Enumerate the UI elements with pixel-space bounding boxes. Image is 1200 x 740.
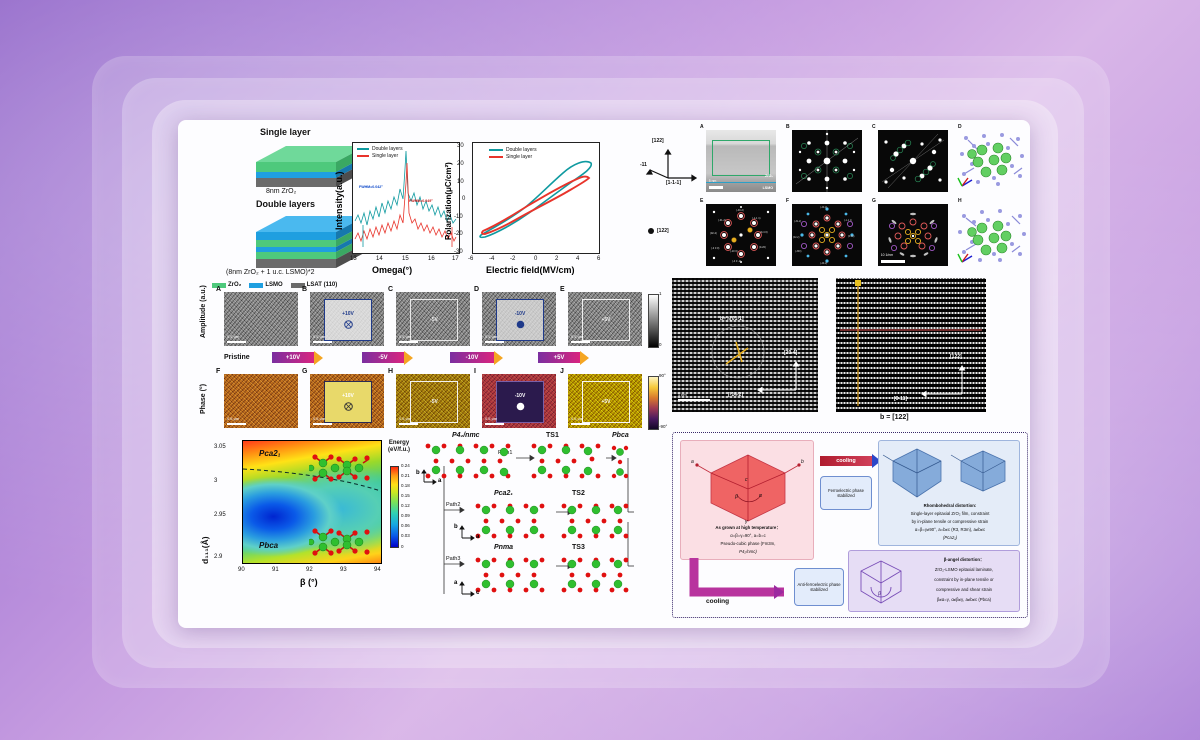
rhombo-body3: α=β=γ≠90°, a=b≠c (R3, R3m), a≠b≠c [883, 527, 1017, 533]
svg-text:(-3 0 0): (-3 0 0) [711, 246, 719, 250]
atomic-model-D-graphic [954, 130, 1030, 192]
pfm-letter-G: G [302, 368, 307, 375]
axis-label-row1-v: b [416, 470, 420, 476]
hrtem-dir1-label: [20-4] [784, 350, 797, 356]
pe-xtick-neg2: -2 [510, 256, 515, 262]
pfm-image-C[interactable]: -5V 0.5 μm [396, 292, 470, 346]
scale-text-G: 0.5 μm [313, 416, 325, 421]
orientation-axes-icon [644, 138, 704, 184]
contour-ytick-290: 2.9 [214, 554, 222, 560]
amplitude-colorbar-gradient [648, 294, 659, 348]
xrd-legend: Double layers Single layer [357, 146, 403, 159]
xrd-xtick-13: 13 [350, 256, 357, 262]
antiferroelectric-pill: Anti-ferroelectric phase stabilized [794, 568, 844, 606]
scale-text-D: 0.5 μm [485, 334, 497, 339]
xrd-xtick-16: 16 [428, 256, 435, 262]
diffraction-image-C[interactable] [878, 130, 948, 192]
tem-letter-C: C [872, 124, 876, 130]
svg-text:a: a [691, 459, 694, 465]
scale-text-I: 0.5 μm [485, 416, 497, 421]
square-label-D: -10V [515, 311, 526, 317]
written-square-G: +10V [324, 381, 372, 423]
zone-axis-label: [122] [657, 228, 669, 234]
svg-text:α: α [759, 493, 762, 499]
contour-colorbar-title: Energy (eV/f.u.) [384, 440, 414, 454]
contour-plot-area: Pca2₁ Pbca [242, 440, 382, 564]
pe-xtick-2: 2 [555, 256, 558, 262]
pseudo-cubic-cell: a b c β α γ [681, 443, 815, 525]
amplitude-colorbar-min: 0 [659, 342, 662, 347]
phase-colorbar-min: -90° [659, 424, 667, 429]
pfm-image-F[interactable]: 0.5 μm [224, 374, 298, 428]
contour-cbtick-003: 0.03 [401, 533, 410, 538]
diffraction-image-E[interactable]: (-40-2)(-31-2)(-1-1 1) (02-2)(0-4 0)(-3 … [706, 204, 776, 266]
cooling-arrow-top-label: cooling [820, 456, 872, 466]
pe-ytick-30: 30 [457, 143, 464, 149]
rhombohedral-cells [879, 443, 1021, 501]
orientation-label-vertical: [122] [652, 138, 664, 144]
rhombohedral-box: Rhombohedral distortion: Single-layer ep… [878, 440, 1020, 546]
scale-bar-F: 0.5 μm [227, 423, 246, 426]
pfm-letter-J: J [560, 368, 564, 375]
pfm-letter-A: A [216, 286, 221, 293]
ferroelectric-pill: Ferroelectric phase stabilized [820, 476, 872, 510]
single-layer-caption: 8nm ZrO₂ [266, 188, 296, 195]
axis-label-row3-v: a [454, 580, 457, 586]
svg-text:β: β [877, 591, 881, 597]
hrtem-dislocation-marks [672, 278, 818, 412]
tem-letter-A: A [700, 124, 704, 130]
chart-energy-phase-map: d₁₁₁(Å) Pca2₁ Pbca [202, 436, 412, 616]
figure-stage: Single layer 8nm ZrO₂ Double layers [0, 0, 1200, 740]
pe-xtick-4: 4 [576, 256, 579, 262]
hrtem-right-caption: b = [122] [880, 414, 909, 421]
contour-cbtick-015: 0.15 [401, 493, 410, 498]
scale-bar-J: 0.5 μm [571, 423, 590, 426]
contour-cbtick-018: 0.18 [401, 483, 410, 488]
as-grown-box: a b c β α γ As grown at high temperature… [680, 440, 814, 560]
hrtem-scale-text: 1 nm [678, 392, 687, 397]
square-label-C: -5V [430, 317, 438, 323]
voltage-arrow-4: +5V [538, 352, 589, 363]
square-label-G: +10V [342, 393, 354, 399]
hrtem-image-left[interactable]: b=½[01-1] [20-4] [-14-2] 1 nm [672, 278, 818, 412]
contour-cbtick-024: 0.24 [401, 463, 410, 468]
phase-colorbar-gradient [648, 376, 659, 430]
zone-axis-marker: [122] [648, 228, 669, 234]
scale-text-C: 0.5 μm [399, 334, 411, 339]
beta-body3: compressive and shear strain [909, 587, 1019, 593]
hrtem-scale-bar: 1 nm [678, 399, 710, 402]
figure-canvas: Single layer 8nm ZrO₂ Double layers [178, 120, 1030, 628]
scale-bar-I: 0.5 μm [485, 423, 504, 426]
written-square-D: -10V [496, 299, 544, 341]
diffraction-pattern-E: (-40-2)(-31-2)(-1-1 1) (02-2)(0-4 0)(-3 … [706, 204, 776, 266]
diffraction-image-F[interactable]: (-40-2)(-31-2)(-1-1 1) (02-2)(0-40)(-300… [792, 204, 862, 266]
square-label-E: +5V [601, 317, 610, 323]
xrd-xtick-14: 14 [376, 256, 383, 262]
contour-xlabel: β (°) [300, 577, 318, 587]
as-grown-line4: P4₂/nmc) [685, 549, 811, 555]
tem-scale-text-G: 10 1/nm [881, 253, 893, 257]
pe-legend-single: Single layer [489, 154, 537, 160]
xrd-annotation-fwhm-double: FWHM=0.042° [359, 185, 383, 189]
axis-label-row2-h: a [476, 534, 479, 540]
voltage-arrow-1-label: +10V [272, 352, 314, 363]
pe-xtick-0: 0 [534, 256, 537, 262]
axis-label-row1-h: a [438, 478, 441, 484]
pfm-letter-D: D [474, 286, 479, 293]
svg-text:(-10 0): (-10 0) [730, 249, 738, 253]
xrd-xlabel: Omega(°) [372, 265, 412, 275]
square-label-I: -10V [515, 393, 526, 399]
pe-legend-single-label: Single layer [506, 154, 532, 160]
scale-bar-E: 0.5 μm [571, 341, 590, 344]
pfm-letter-F: F [216, 368, 220, 375]
rhombo-body2: by in-plane tensile or compressive strai… [883, 519, 1017, 525]
scale-bar-D: 0.5 μm [485, 341, 504, 344]
pfm-image-H[interactable]: -5V 0.5 μm [396, 374, 470, 428]
scale-bar-C: 0.5 μm [399, 341, 418, 344]
double-layer-caption: (8nm ZrO₂ + 1 u.c. LSMO)*2 [226, 269, 315, 276]
diffraction-image-G[interactable]: 10 1/nm [878, 204, 948, 266]
single-layer-title: Single layer [260, 127, 311, 137]
scale-bar-H: 0.5 μm [399, 423, 418, 426]
pe-ytick-neg30: -30 [454, 249, 463, 255]
svg-text:(-4 0 -2): (-4 0 -2) [732, 259, 741, 263]
svg-text:(-40-2): (-40-2) [820, 262, 827, 265]
cooling-arrow-top: cooling [820, 454, 881, 468]
svg-text:(-300): (-300) [795, 250, 802, 253]
pe-legend-double: Double layers [489, 147, 537, 153]
pfm-letter-C: C [388, 286, 393, 293]
contour-xtick-94: 94 [374, 567, 381, 573]
svg-text:(0-20): (0-20) [759, 245, 766, 249]
atomic-model-D[interactable] [954, 130, 1030, 192]
written-square-J: +5V [582, 381, 630, 423]
written-square-C: -5V [410, 299, 458, 341]
contour-xtick-93: 93 [340, 567, 347, 573]
pe-ytick-10: 10 [457, 179, 464, 185]
amplitude-axis-label: Amplitude (a.u.) [200, 285, 207, 338]
written-square-H: -5V [410, 381, 458, 423]
voltage-arrow-2: -5V [362, 352, 413, 363]
hrtem-right-marks [836, 278, 986, 412]
hrtem-image-right[interactable]: [122] [0-11] [836, 278, 986, 412]
square-label-B: +10V [342, 311, 354, 317]
paths-structure-graphics [416, 432, 634, 618]
hrtem-right-dir2-label: [0-11] [894, 396, 907, 402]
panel-pfm-amplitude-row: Amplitude (a.u.) A 0.5 μm B +10V 0.5 μm … [202, 286, 622, 348]
xrd-legend-single-label: Single layer [372, 153, 398, 159]
axis-label-row3-h: c [476, 590, 479, 596]
contour-region-pca21: Pca2₁ [259, 449, 281, 458]
written-square-I: -10V [496, 381, 544, 423]
contour-ylabel: d₁₁₁(Å) [200, 536, 210, 564]
written-square-B: +10V [324, 299, 372, 341]
tem-image-A[interactable]: ZrO₂ LSMO 5 nm [706, 130, 776, 192]
as-grown-line1: As grown at high temperature： [685, 525, 811, 531]
panel-transition-paths: P4₂/nmc TS1 Pbca Pca2₁ TS2 Pnma TS3 Path… [416, 432, 634, 618]
scale-text-B: 0.5 μm [313, 334, 325, 339]
svg-text:β: β [734, 494, 738, 500]
cooling-arrow-bottom-label: cooling [706, 598, 729, 605]
svg-text:(0-4 0): (0-4 0) [760, 230, 768, 234]
as-grown-line2: α=β=γ=90°, a=b=c [685, 533, 811, 539]
double-layer-title: Double layers [256, 199, 315, 209]
xrd-annotation-fwhm-single: FWHM=0.049° [409, 199, 433, 203]
pe-xlabel: Electric field(MV/cm) [486, 265, 575, 275]
crystal-inset-pca21 [309, 451, 373, 485]
as-grown-line3: Pseudo-cubic phase (Fm3m, [685, 541, 811, 547]
atomic-model-H[interactable] [954, 204, 1030, 266]
panel-tem-diffraction-grid: [122] -11 [1-1-1] [122] A ZrO₂ LSMO 5 nm… [640, 124, 1030, 274]
pfm-image-J[interactable]: +5V 0.5 μm [568, 374, 642, 428]
pe-legend: Double layers Single layer [489, 147, 537, 160]
tem-scale-bar-G: 10 1/nm [881, 260, 905, 263]
pe-xtick-neg4: -4 [489, 256, 494, 262]
xrd-legend-double: Double layers [357, 146, 403, 152]
rhombo-body4: (Pca2₁) [883, 535, 1017, 541]
voltage-arrow-2-label: -5V [362, 352, 404, 363]
tem-tag-lsmo: LSMO [763, 186, 773, 190]
tem-letter-B: B [786, 124, 790, 130]
beta-body4: β≠α=γ, α≠β≠γ, a≠b≠c (Pbca) [909, 597, 1019, 603]
xrd-legend-single: Single layer [357, 153, 403, 159]
xrd-xtick-15: 15 [402, 256, 409, 262]
cooling-arrow-bottom-path [688, 558, 808, 618]
tem-letter-F: F [786, 198, 789, 204]
svg-text:(-40-2): (-40-2) [820, 206, 827, 209]
amplitude-colorbar-max: 1 [659, 291, 662, 296]
hrtem-dir2-label: [-14-2] [728, 392, 743, 398]
tem-scale-text-A: 5 nm [709, 179, 717, 183]
scale-bar-G: 0.5 μm [313, 423, 332, 426]
scale-bar-A: 0.5 μm [227, 341, 246, 344]
scale-text-J: 0.5 μm [571, 416, 583, 421]
rhombo-title: Rhombohedral distortion: [883, 503, 1017, 509]
contour-ytick-300: 3 [214, 478, 217, 484]
panel-distortion-schematic: a b c β α γ As grown at high temperature… [672, 432, 1028, 618]
panel-hrtem-pair: b=½[01-1] [20-4] [-14-2] 1 nm [672, 278, 1030, 428]
xrd-legend-double-label: Double layers [372, 146, 403, 152]
contour-ytick-305: 3.05 [214, 444, 226, 450]
pfm-image-I[interactable]: -10V 0.5 μm [482, 374, 556, 428]
beta-distortion-box: β β-angel distortion： ZrO₂-LSMO epitaxia… [848, 550, 1020, 612]
chart-pe-hysteresis: Polarization(μC/cm²) Double layers Singl… [440, 130, 620, 280]
rhombo-body1: Single-layer epitaxial ZrO₂ film, constr… [883, 511, 1017, 517]
pfm-letter-E: E [560, 286, 565, 293]
svg-text:(-1-1 1): (-1-1 1) [752, 216, 761, 220]
svg-text:(02-2): (02-2) [793, 236, 800, 239]
svg-text:(-1-1 1): (-1-1 1) [844, 219, 852, 222]
contour-cbtick-021: 0.21 [401, 473, 410, 478]
orientation-label-diagonal: -11 [640, 162, 647, 168]
axis-label-row2-v: b [454, 524, 458, 530]
contour-cbtick-006: 0.06 [401, 523, 410, 528]
tem-tag-zro2: ZrO₂ [765, 174, 773, 178]
beta-cell-graphic: β [851, 553, 911, 611]
scale-bar-B: 0.5 μm [313, 341, 332, 344]
xrd-ylabel: Intensity(a.u.) [334, 171, 344, 230]
pfm-letter-H: H [388, 368, 393, 375]
voltage-arrow-1: +10V [272, 352, 323, 363]
pfm-image-B[interactable]: +10V 0.5 μm [310, 292, 384, 346]
svg-text:(02-2): (02-2) [710, 231, 717, 235]
atomic-model-H-graphic [954, 204, 1030, 266]
pe-xtick-6: 6 [597, 256, 600, 262]
pe-ytick-neg20: -20 [454, 231, 463, 237]
contour-colorbar [390, 466, 399, 548]
written-square-E: +5V [582, 299, 630, 341]
contour-cbtick-000: 0 [401, 544, 404, 549]
hrtem-right-dir1-label: [122] [950, 354, 962, 360]
panel-pfm-phase-row: Phase (°) F 0.5 μm G +10V 0.5 μm H -5V [202, 368, 622, 430]
diffraction-image-B[interactable] [792, 130, 862, 192]
svg-text:(-31-2): (-31-2) [718, 218, 726, 222]
pe-ytick-20: 20 [457, 161, 464, 167]
scale-text-H: 0.5 μm [399, 416, 411, 421]
contour-xtick-92: 92 [306, 567, 313, 573]
voltage-sequence-row: Pristine +10V -5V -10V +5V [202, 352, 632, 366]
diffraction-pattern-B [792, 130, 862, 192]
pfm-image-A[interactable]: 0.5 μm [224, 292, 298, 346]
svg-text:(-31-2): (-31-2) [794, 220, 801, 223]
svg-text:b: b [801, 459, 804, 465]
pe-plot-area: Double layers Single layer [472, 142, 600, 254]
beta-body1: ZrO₂-LSMO epitaxial laminate, [909, 567, 1019, 573]
pe-xtick-neg6: -6 [468, 256, 473, 262]
scale-text-E: 0.5 μm [571, 334, 583, 339]
pe-legend-double-label: Double layers [506, 147, 537, 153]
phase-colorbar-max: 90° [659, 373, 666, 378]
pristine-label: Pristine [224, 354, 250, 361]
pfm-image-D[interactable]: -10V 0.5 μm [482, 292, 556, 346]
svg-text:(0-40): (0-40) [848, 235, 855, 238]
scale-text-F: 0.5 μm [227, 416, 239, 421]
tem-scale-bar-A: 5 nm [709, 186, 723, 189]
pfm-image-E[interactable]: +5V 0.5 μm [568, 292, 642, 346]
square-label-J: +5V [601, 399, 610, 405]
phase-colorbar: 90° -90° [648, 368, 674, 434]
contour-xtick-90: 90 [238, 567, 245, 573]
contour-cbtick-012: 0.12 [401, 503, 410, 508]
orientation-label-horizontal: [1-1-1] [666, 180, 681, 186]
pe-ytick-0: 0 [462, 196, 465, 202]
phase-axis-label: Phase (°) [200, 384, 207, 414]
voltage-arrow-3-label: -10V [450, 352, 494, 363]
pe-ylabel: Polarization(μC/cm²) [444, 162, 453, 240]
beta-title: β-angel distortion： [909, 557, 1019, 563]
voltage-arrow-3: -10V [450, 352, 503, 363]
pfm-letter-B: B [302, 286, 307, 293]
pfm-letter-I: I [474, 368, 476, 375]
tem-letter-E: E [700, 198, 703, 204]
contour-cbtick-009: 0.09 [401, 513, 410, 518]
diffraction-pattern-F: (-40-2)(-31-2)(-1-1 1) (02-2)(0-40)(-300… [792, 204, 862, 266]
contour-ytick-295: 2.95 [214, 512, 226, 518]
scale-text-A: 0.5 μm [227, 334, 239, 339]
beta-body2: constraint by in-plane tensile or [909, 577, 1019, 583]
pe-ytick-neg10: -10 [454, 214, 463, 220]
square-label-H: -5V [430, 399, 438, 405]
pfm-image-G[interactable]: +10V 0.5 μm [310, 374, 384, 428]
contour-xtick-91: 91 [272, 567, 279, 573]
voltage-arrow-4-label: +5V [538, 352, 580, 363]
svg-text:(-40-2): (-40-2) [736, 208, 744, 212]
crystal-inset-pbca [309, 525, 373, 559]
tem-letter-G: G [872, 198, 876, 204]
contour-region-pbca: Pbca [259, 541, 278, 550]
amplitude-colorbar: 1 0 [648, 286, 672, 352]
diffraction-pattern-C [878, 130, 948, 192]
